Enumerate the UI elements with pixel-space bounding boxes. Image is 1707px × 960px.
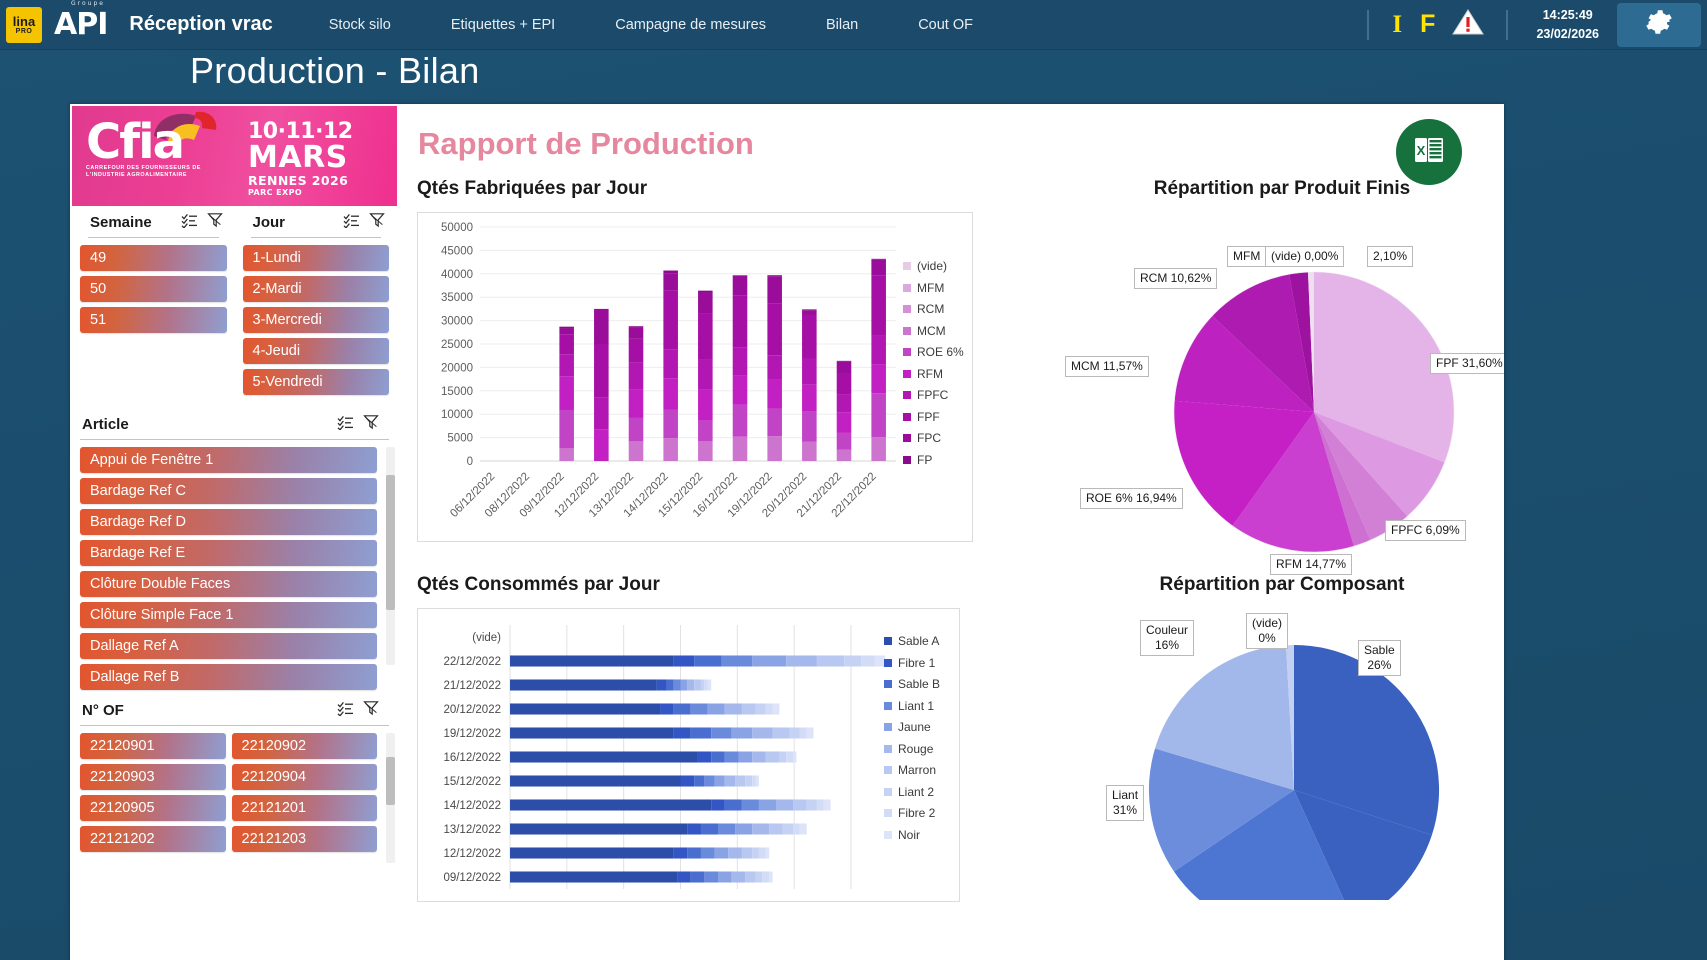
nav-items: Stock silo Etiquettes + EPI Campagne de … bbox=[329, 11, 1033, 39]
cfia-banner[interactable]: Cfia CARREFOUR DES FOURNISSEURS DE L'IND… bbox=[72, 106, 397, 206]
legend-item: Rouge bbox=[884, 742, 940, 756]
numero-of-scrollbar[interactable] bbox=[386, 733, 395, 863]
legend-item: Marron bbox=[884, 763, 940, 777]
legend-item: Sable B bbox=[884, 677, 940, 691]
pie-callout-label: (vide) bbox=[1252, 616, 1282, 631]
legend-label: RFM bbox=[917, 367, 943, 381]
svg-text:15000: 15000 bbox=[441, 386, 473, 398]
pie-callout-value: 31% bbox=[1112, 803, 1138, 818]
pie-callout: RFM 14,77% bbox=[1270, 554, 1352, 575]
slicer-item[interactable]: Clôture Double Faces bbox=[80, 571, 377, 597]
slicer-title-jour: Jour bbox=[253, 214, 286, 231]
slicer-item[interactable]: 22120902 bbox=[232, 733, 378, 759]
svg-text:12/12/2022: 12/12/2022 bbox=[443, 848, 501, 860]
pie-callout: Sable 26% bbox=[1358, 640, 1401, 676]
svg-text:50000: 50000 bbox=[441, 222, 473, 234]
clock-date: 23/02/2026 bbox=[1536, 25, 1599, 43]
nav-item-campagne-mesures[interactable]: Campagne de mesures bbox=[615, 11, 766, 39]
clock-display: 14:25:49 23/02/2026 bbox=[1536, 6, 1599, 42]
pie-container: MFM (vide) 0,00% 2,10% RCM 10,62% MCM 11… bbox=[1062, 206, 1502, 586]
legend-swatch bbox=[903, 327, 911, 335]
legend-swatch bbox=[903, 413, 911, 421]
pie-callout: Liant 31% bbox=[1106, 785, 1144, 821]
legend-swatch bbox=[884, 788, 892, 796]
pie-callout: FPF 31,60% bbox=[1430, 353, 1504, 374]
divider bbox=[88, 237, 219, 238]
clear-filter-icon[interactable] bbox=[369, 212, 385, 233]
lina-logo-subtext: PRO bbox=[16, 28, 33, 35]
pie-callout: (vide) 0,00% bbox=[1265, 246, 1344, 267]
legend-item: FPFC bbox=[903, 388, 964, 402]
pie-callout-label: Couleur bbox=[1146, 623, 1188, 638]
legend-item: FPC bbox=[903, 431, 964, 445]
legend-label: ROE 6% bbox=[917, 345, 964, 359]
legend-item: ROE 6% bbox=[903, 345, 964, 359]
legend-swatch bbox=[903, 348, 911, 356]
top-navigation-bar: lina PRO Groupe API Réception vrac Stock… bbox=[0, 0, 1707, 50]
chart-legend: Sable AFibre 1Sable BLiant 1JauneRougeMa… bbox=[884, 634, 940, 849]
cfia-tagline: CARREFOUR DES FOURNISSEURS DE L'INDUSTRI… bbox=[86, 165, 236, 180]
legend-item: RCM bbox=[903, 302, 964, 316]
slicer-item[interactable]: 51 bbox=[80, 307, 227, 333]
pie-callout-value: 26% bbox=[1364, 658, 1395, 673]
legend-swatch bbox=[903, 434, 911, 442]
page-title: Production - Bilan bbox=[190, 50, 480, 92]
slicer-item[interactable]: 50 bbox=[80, 276, 227, 302]
legend-swatch bbox=[884, 680, 892, 688]
pie-callout: FPFC 6,09% bbox=[1385, 520, 1466, 541]
excel-export-icon: X bbox=[1411, 132, 1447, 173]
legend-label: MFM bbox=[917, 281, 944, 295]
chart-repartition-composant: Répartition par Composant Couleur 16% (v… bbox=[1062, 574, 1502, 900]
legend-swatch bbox=[903, 391, 911, 399]
slicer-header: Jour bbox=[243, 212, 390, 237]
legend-label: Sable B bbox=[898, 677, 940, 691]
svg-text:15/12/2022: 15/12/2022 bbox=[443, 776, 501, 788]
legend-item: (vide) bbox=[903, 259, 964, 273]
svg-text:19/12/2022: 19/12/2022 bbox=[443, 728, 501, 740]
pie-callout: 2,10% bbox=[1367, 246, 1413, 267]
svg-text:16/12/2022: 16/12/2022 bbox=[443, 752, 501, 764]
chart-title: Qtés Fabriquées par Jour bbox=[417, 178, 973, 200]
legend-swatch bbox=[903, 305, 911, 313]
clock-time: 14:25:49 bbox=[1536, 6, 1599, 24]
svg-text:5000: 5000 bbox=[447, 433, 473, 445]
nav-item-cout-of[interactable]: Cout OF bbox=[918, 11, 973, 39]
slicer-header: N° OF bbox=[72, 700, 397, 725]
nav-right-cluster: I F 14:25:49 23/02/2026 bbox=[1353, 0, 1707, 49]
chart-title: Répartition par Composant bbox=[1062, 574, 1502, 596]
nav-item-etiquettes-epi[interactable]: Etiquettes + EPI bbox=[451, 11, 555, 39]
report-heading: Rapport de Production bbox=[418, 126, 754, 162]
api-logo-sup: Groupe bbox=[71, 0, 105, 7]
slicer-header: Semaine bbox=[80, 212, 227, 237]
chart-title: Répartition par Produit Finis bbox=[1062, 178, 1502, 200]
indicator-i-badge[interactable]: I bbox=[1392, 11, 1402, 39]
divider bbox=[251, 237, 382, 238]
slicer-item[interactable]: 22121201 bbox=[232, 795, 378, 821]
pie-callout-value: 0% bbox=[1252, 631, 1282, 646]
svg-text:14/12/2022: 14/12/2022 bbox=[443, 800, 501, 812]
legend-swatch bbox=[884, 809, 892, 817]
legend-item: MFM bbox=[903, 281, 964, 295]
slicer-panel: Semaine bbox=[72, 212, 397, 857]
slicer-item[interactable]: Bardage Ref D bbox=[80, 509, 377, 535]
legend-swatch bbox=[884, 702, 892, 710]
svg-text:X: X bbox=[1417, 143, 1426, 158]
legend-item: Liant 2 bbox=[884, 785, 940, 799]
svg-text:0: 0 bbox=[467, 456, 473, 468]
slicer-item[interactable]: 22120903 bbox=[80, 764, 226, 790]
slicer-actions bbox=[337, 700, 379, 721]
pie-callout-value: 16% bbox=[1146, 638, 1188, 653]
slicer-item[interactable]: 22120901 bbox=[80, 733, 226, 759]
cfia-logo: Cfia CARREFOUR DES FOURNISSEURS DE L'IND… bbox=[86, 120, 236, 180]
legend-label: Fibre 2 bbox=[898, 806, 935, 820]
pie-callout-label: Liant bbox=[1112, 788, 1138, 803]
chart-plot-area: (vide)22/12/202221/12/202220/12/202219/1… bbox=[417, 608, 960, 902]
nav-item-bilan[interactable]: Bilan bbox=[826, 11, 858, 39]
legend-swatch bbox=[884, 659, 892, 667]
slicer-item[interactable]: Dallage Ref A bbox=[80, 633, 377, 659]
pie-callout: Couleur 16% bbox=[1140, 620, 1194, 656]
slicer-title-semaine: Semaine bbox=[90, 214, 152, 231]
slicer-header: Article bbox=[72, 414, 397, 439]
legend-swatch bbox=[884, 723, 892, 731]
svg-text:10000: 10000 bbox=[441, 409, 473, 421]
legend-item: Jaune bbox=[884, 720, 940, 734]
slicer-item[interactable]: Bardage Ref C bbox=[80, 478, 377, 504]
legend-swatch bbox=[884, 831, 892, 839]
slicer-item[interactable]: 22120905 bbox=[80, 795, 226, 821]
legend-swatch bbox=[903, 262, 911, 270]
legend-label: MCM bbox=[917, 324, 946, 338]
pie-callout-label: Sable bbox=[1364, 643, 1395, 658]
slicer-item[interactable]: 22121202 bbox=[80, 826, 226, 852]
legend-item: Noir bbox=[884, 828, 940, 842]
chart-repartition-produit-finis: Répartition par Produit Finis bbox=[1062, 178, 1502, 586]
divider bbox=[1367, 10, 1369, 40]
legend-label: (vide) bbox=[917, 259, 947, 273]
slicer-item[interactable]: 1-Lundi bbox=[243, 245, 390, 271]
slicer-item[interactable]: 22120904 bbox=[232, 764, 378, 790]
legend-swatch bbox=[903, 370, 911, 378]
svg-text:21/12/2022: 21/12/2022 bbox=[443, 680, 501, 692]
numero-of-scrollbar-thumb[interactable] bbox=[386, 757, 395, 805]
slicer-numero-of: N° OF bbox=[72, 700, 397, 857]
slicer-item[interactable]: 5-Vendredi bbox=[243, 369, 390, 395]
pie-callout: MFM bbox=[1227, 246, 1266, 267]
slicer-items-article: Appui de Fenêtre 1 Bardage Ref C Bardage… bbox=[72, 447, 397, 690]
legend-item: Fibre 2 bbox=[884, 806, 940, 820]
slicer-actions bbox=[343, 212, 385, 233]
cfia-brand: Cfia bbox=[86, 120, 236, 164]
legend-label: Marron bbox=[898, 763, 936, 777]
legend-label: Noir bbox=[898, 828, 920, 842]
legend-item: RFM bbox=[903, 367, 964, 381]
legend-label: Liant 2 bbox=[898, 785, 934, 799]
legend-item: FP bbox=[903, 453, 964, 467]
slicer-jour: Jour bbox=[235, 212, 398, 400]
legend-swatch bbox=[884, 637, 892, 645]
app-title: Réception vrac bbox=[129, 13, 272, 36]
divider bbox=[80, 439, 389, 440]
legend-label: Liant 1 bbox=[898, 699, 934, 713]
chart-qtes-consommes: Qtés Consommés par Jour (vide)22/12/2022… bbox=[417, 574, 960, 902]
bar-chart-svg: 0500010000150002000025000300003500040000… bbox=[418, 213, 974, 543]
slicer-items-jour: 1-Lundi 2-Mardi 3-Mercredi 4-Jeudi 5-Ven… bbox=[243, 245, 390, 395]
horizontal-bar-chart-svg: (vide)22/12/202221/12/202220/12/202219/1… bbox=[418, 609, 961, 903]
api-logo: Groupe API bbox=[54, 7, 107, 42]
lina-logo-text: lina bbox=[13, 15, 35, 28]
legend-label: Sable A bbox=[898, 634, 939, 648]
legend-label: FPF bbox=[917, 410, 940, 424]
legend-swatch bbox=[903, 284, 911, 292]
slicer-item[interactable]: 22121203 bbox=[232, 826, 378, 852]
slicer-item[interactable]: 2-Mardi bbox=[243, 276, 390, 302]
clear-filter-icon[interactable] bbox=[363, 414, 379, 435]
article-scrollbar[interactable] bbox=[386, 447, 395, 665]
slicer-article: Article bbox=[72, 414, 397, 690]
slicer-title-numero-of: N° OF bbox=[82, 702, 124, 719]
svg-text:22/12/2022: 22/12/2022 bbox=[443, 656, 501, 668]
clear-filter-icon[interactable] bbox=[363, 700, 379, 721]
cfia-month: MARS bbox=[248, 144, 353, 172]
lina-pro-logo: lina PRO bbox=[6, 7, 42, 43]
slicer-actions bbox=[181, 212, 223, 233]
nav-item-stock-silo[interactable]: Stock silo bbox=[329, 11, 391, 39]
legend-label: FPC bbox=[917, 431, 941, 445]
slicer-row-semaine-jour: Semaine bbox=[72, 212, 397, 400]
divider bbox=[1506, 10, 1508, 40]
slicer-item[interactable]: 3-Mercredi bbox=[243, 307, 390, 333]
excel-export-button[interactable]: X bbox=[1396, 119, 1462, 185]
slicer-item[interactable]: Bardage Ref E bbox=[80, 540, 377, 566]
svg-text:20000: 20000 bbox=[441, 362, 473, 374]
multiselect-icon[interactable] bbox=[337, 415, 354, 435]
svg-text:30000: 30000 bbox=[441, 316, 473, 328]
chart-legend: (vide)MFMRCMMCMROE 6%RFMFPFCFPFFPCFP bbox=[903, 259, 964, 474]
cfia-dates-block: 10·11·12 MARS RENNES 2026 PARC EXPO bbox=[248, 119, 353, 197]
slicer-actions bbox=[337, 414, 379, 435]
pie-container: Couleur 16% (vide) 0% Sable 26% Liant 31… bbox=[1062, 600, 1502, 900]
divider bbox=[80, 725, 389, 726]
warning-triangle-icon[interactable] bbox=[1452, 8, 1484, 41]
legend-label: FP bbox=[917, 453, 932, 467]
svg-text:35000: 35000 bbox=[441, 292, 473, 304]
slicer-items-numero-of: 22120901 22120902 22120903 22120904 2212… bbox=[72, 733, 397, 857]
report-canvas: Cfia CARREFOUR DES FOURNISSEURS DE L'IND… bbox=[70, 104, 1504, 960]
legend-label: RCM bbox=[917, 302, 944, 316]
legend-item: Sable A bbox=[884, 634, 940, 648]
slicer-items-semaine: 49 50 51 bbox=[80, 245, 227, 333]
api-logo-text: API bbox=[54, 7, 107, 42]
chart-qtes-fabriquees: Qtés Fabriquées par Jour 050001000015000… bbox=[417, 178, 973, 542]
legend-label: FPFC bbox=[917, 388, 948, 402]
article-scrollbar-thumb[interactable] bbox=[386, 475, 395, 610]
multiselect-icon[interactable] bbox=[337, 701, 354, 721]
svg-text:09/12/2022: 09/12/2022 bbox=[443, 872, 501, 884]
legend-label: Fibre 1 bbox=[898, 656, 935, 670]
multiselect-icon[interactable] bbox=[181, 213, 198, 233]
pie-callout: RCM 10,62% bbox=[1134, 268, 1217, 289]
multiselect-icon[interactable] bbox=[343, 213, 360, 233]
legend-label: Jaune bbox=[898, 720, 931, 734]
chart-plot-area: 0500010000150002000025000300003500040000… bbox=[417, 212, 973, 542]
legend-item: FPF bbox=[903, 410, 964, 424]
cfia-venue: PARC EXPO bbox=[248, 188, 353, 197]
legend-label: Rouge bbox=[898, 742, 933, 756]
clear-filter-icon[interactable] bbox=[207, 212, 223, 233]
settings-button[interactable] bbox=[1617, 3, 1701, 47]
gear-icon bbox=[1645, 8, 1673, 41]
slicer-item[interactable]: Appui de Fenêtre 1 bbox=[80, 447, 377, 473]
cfia-city: RENNES 2026 bbox=[248, 173, 353, 188]
svg-text:45000: 45000 bbox=[441, 245, 473, 257]
svg-text:40000: 40000 bbox=[441, 269, 473, 281]
legend-swatch bbox=[884, 766, 892, 774]
chart-title: Qtés Consommés par Jour bbox=[417, 574, 960, 596]
slicer-item[interactable]: 49 bbox=[80, 245, 227, 271]
slicer-item[interactable]: 4-Jeudi bbox=[243, 338, 390, 364]
slicer-item[interactable]: Clôture Simple Face 1 bbox=[80, 602, 377, 628]
svg-text:(vide): (vide) bbox=[472, 632, 501, 644]
slicer-item[interactable]: Dallage Ref B bbox=[80, 664, 377, 690]
svg-text:25000: 25000 bbox=[441, 339, 473, 351]
slicer-title-article: Article bbox=[82, 416, 129, 433]
legend-swatch bbox=[884, 745, 892, 753]
svg-text:13/12/2022: 13/12/2022 bbox=[443, 824, 501, 836]
pie-callout: (vide) 0% bbox=[1246, 613, 1288, 649]
legend-item: Liant 1 bbox=[884, 699, 940, 713]
legend-item: Fibre 1 bbox=[884, 656, 940, 670]
legend-swatch bbox=[903, 456, 911, 464]
legend-item: MCM bbox=[903, 324, 964, 338]
indicator-f-badge[interactable]: F bbox=[1420, 10, 1435, 39]
pie-callout: ROE 6% 16,94% bbox=[1080, 488, 1183, 509]
pie-callout: MCM 11,57% bbox=[1065, 356, 1149, 377]
slicer-semaine: Semaine bbox=[72, 212, 235, 400]
svg-text:20/12/2022: 20/12/2022 bbox=[443, 704, 501, 716]
